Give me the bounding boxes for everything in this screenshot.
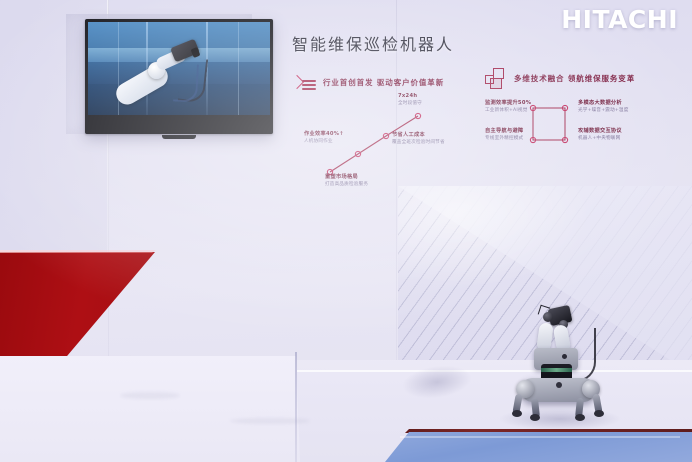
quadruped-inspection-robot[interactable]: [512, 306, 630, 422]
robot-cable-icon: [572, 328, 596, 382]
robot-status-indicator: [562, 354, 567, 359]
growth-line-chart: 重塑市场格局 打造高品质检验服务 作业效率40%↑ 人机协同作业 节省人工成本 …: [296, 96, 471, 188]
chart-point-label: 重塑市场格局 打造高品质检验服务: [325, 174, 368, 189]
chart-point-label: 节省人工成本 覆盖全班次检验时间节省: [392, 132, 445, 147]
robot-foot: [594, 410, 604, 417]
floor-platform-left: [0, 356, 300, 462]
quad-diagram-svg: [527, 102, 571, 146]
section-title-right: 多维技术融合 领航维保服务变革: [514, 73, 635, 84]
section-header-right: 多维技术融合 领航维保服务变革: [485, 68, 635, 88]
quad-label-bottom-left: 自主导航与避障 专线室外精控模式: [485, 128, 523, 143]
display-screen: [88, 22, 270, 115]
screen-panel-line: [238, 22, 239, 115]
section-header-left: 行业首创首发 驱动客户价值革新: [292, 74, 444, 90]
quad-edges: [533, 108, 565, 140]
robot-lidar-ring: [541, 368, 572, 372]
quad-label-top-left: 监测效率提升50% 工业新体积+AI视觉: [485, 100, 523, 115]
exhibition-booth-scene: HITACHI 智能维保巡检机器人 行业首创首发 驱动客户价值革新 多维技术融合…: [0, 0, 692, 462]
hitachi-logo: HITACHI: [561, 7, 678, 32]
red-panel-top-highlight: [0, 250, 160, 253]
arrow-into-lines-icon: [292, 74, 316, 90]
stacked-squares-icon: [485, 68, 507, 88]
glass-panel-highlight: [400, 436, 680, 438]
robot-foot: [575, 414, 585, 421]
display-stand: [162, 135, 196, 139]
quad-label-bottom-right: 攻辅数据交互协议 机器人+中央物联网: [578, 128, 622, 143]
quad-label-top-right: 多模态大数据分析 光学+噪音+震动+温度: [578, 100, 629, 115]
four-node-square-diagram: 监测效率提升50% 工业新体积+AI视觉 多模态大数据分析 光学+噪音+震动+温…: [486, 98, 638, 150]
chart-point-label: 7x24h 全时段值守: [398, 93, 422, 108]
robot-foot: [530, 414, 540, 421]
floor-platform-edge: [295, 352, 297, 462]
floor-riser-edge: [297, 370, 692, 372]
chart-point-label: 作业效率40%↑ 人机协同作业: [304, 131, 344, 146]
section-title-left: 行业首创首发 驱动客户价值革新: [323, 77, 444, 88]
floor-scuff: [120, 392, 180, 399]
page-title: 智能维保巡检机器人: [292, 31, 454, 55]
wall-mounted-display[interactable]: [85, 19, 273, 134]
robot-chassis-port: [556, 382, 562, 388]
floor-scuff: [230, 418, 310, 424]
robot-foot: [512, 410, 522, 417]
